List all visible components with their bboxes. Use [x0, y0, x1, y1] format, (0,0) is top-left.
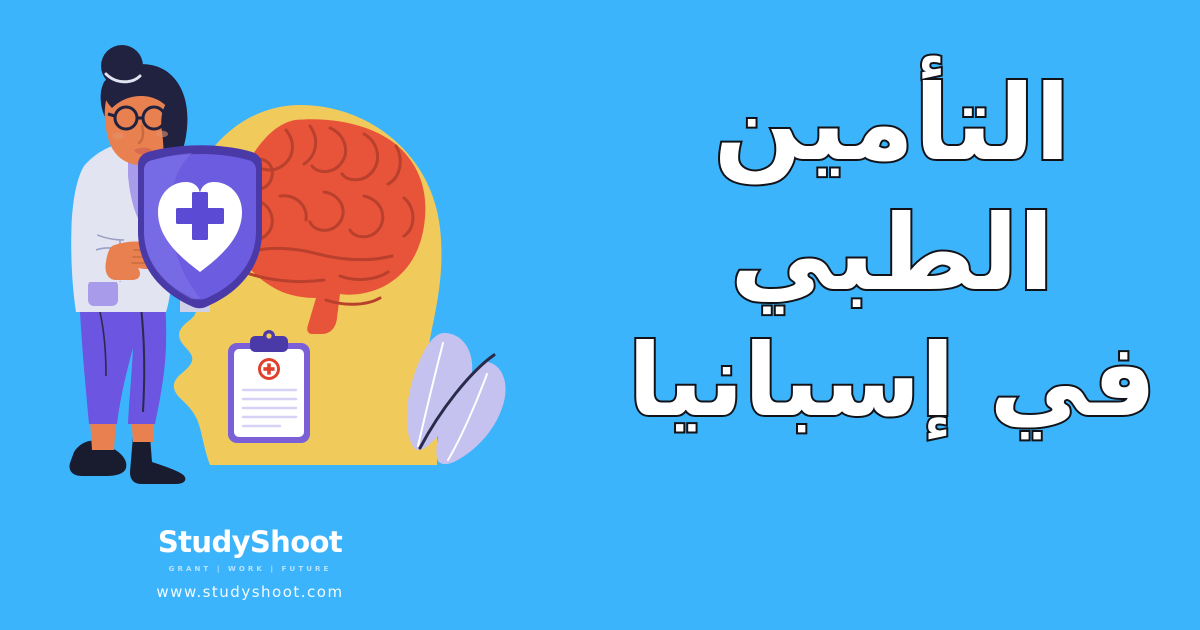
headline-line-2: الطبي [612, 188, 1172, 318]
brand-wordmark: StudyShoot [150, 528, 350, 557]
hero-illustration [0, 0, 540, 520]
banner-canvas: التأمين الطبي في إسبانيا StudyShoot GRAN… [0, 0, 1200, 630]
brand-logo-block: StudyShoot GRANT | WORK | FUTURE www.stu… [150, 528, 350, 600]
page-title: التأمين الطبي في إسبانيا [612, 58, 1172, 443]
illustration-svg [0, 0, 540, 520]
left-ankle [90, 420, 116, 450]
headline-line-3: في إسبانيا [612, 318, 1172, 443]
coat-pocket [88, 280, 118, 306]
headline-line-1: التأمين [612, 58, 1172, 188]
brand-website-url: www.studyshoot.com [150, 585, 350, 600]
shoes [70, 436, 186, 484]
brand-tagline: GRANT | WORK | FUTURE [150, 566, 350, 573]
medical-clipboard [228, 330, 310, 443]
